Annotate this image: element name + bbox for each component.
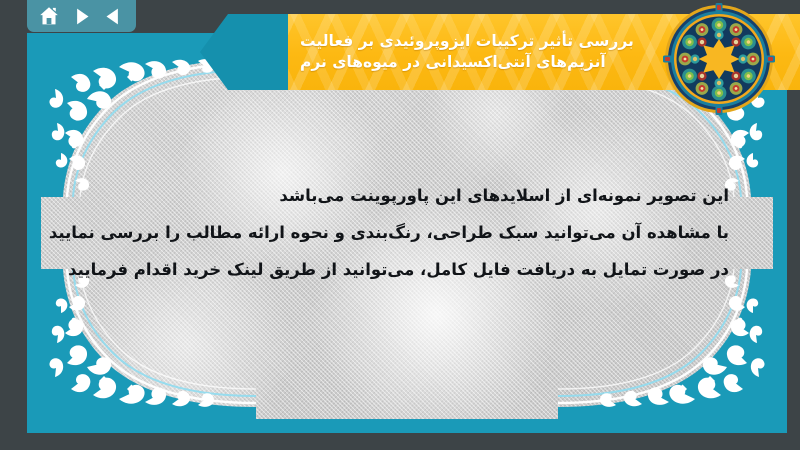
body-line-3: در صورت تمایل به دریافت فایل کامل، می‌تو… <box>85 251 729 288</box>
triangle-right-icon <box>71 6 92 27</box>
body-line-2: با مشاهده آن می‌توانید سبک طراحی، رنگ‌بن… <box>85 214 729 251</box>
slide-navigation-bar <box>27 0 136 32</box>
previous-slide-button[interactable] <box>101 4 127 28</box>
slide-body-text: این تصویر نمونه‌ای از اسلایدهای این پاور… <box>85 177 729 288</box>
slide-preview-stage: این تصویر نمونه‌ای از اسلایدهای این پاور… <box>0 0 800 450</box>
body-line-1: این تصویر نمونه‌ای از اسلایدهای این پاور… <box>85 177 729 214</box>
arabesque-corner-icon-bottom-left <box>41 269 256 419</box>
arabesque-corner-icon-top-left <box>41 47 256 197</box>
triangle-left-icon <box>103 6 124 27</box>
home-button[interactable] <box>36 4 62 28</box>
home-icon <box>38 5 60 27</box>
mandala-medallion-icon <box>663 3 775 115</box>
arabesque-corner-icon-bottom-right <box>558 269 773 419</box>
next-slide-button[interactable] <box>69 4 95 28</box>
